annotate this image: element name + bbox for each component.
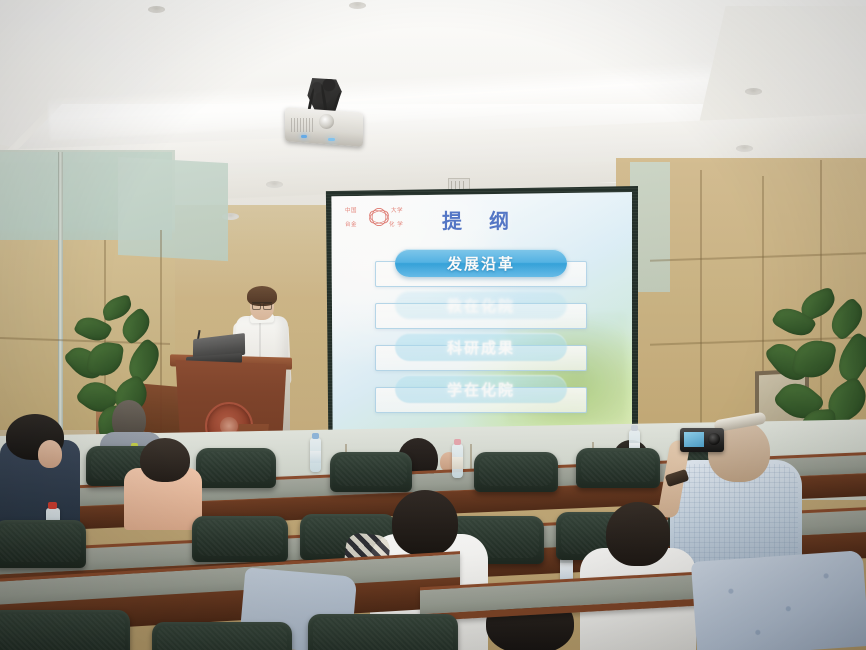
projector-status-led (328, 138, 335, 141)
slide-outline-list: 发展沿革 教在化院 科研成果 学在化院 (329, 247, 632, 415)
outline-item-label[interactable]: 教在化院 (395, 291, 567, 319)
wall-panel-seam (700, 170, 702, 440)
lecture-chair[interactable] (308, 614, 458, 650)
downlight-icon (736, 145, 753, 152)
outline-item[interactable]: 学在化院 (329, 373, 632, 415)
jacket-pattern (697, 557, 863, 650)
bottle-cap (454, 439, 461, 445)
camera-screen (684, 432, 704, 447)
lecture-chair[interactable] (152, 622, 292, 650)
water-bottle[interactable] (452, 444, 463, 478)
attendee-head (606, 502, 670, 566)
downlight-icon (349, 2, 366, 9)
projector-vents (291, 118, 313, 132)
bottle-label (560, 563, 573, 579)
outline-item[interactable]: 教在化院 (329, 289, 632, 331)
bottle-cap (631, 425, 638, 431)
plant-leaf (791, 337, 837, 381)
projection-screen[interactable]: 中国 台金 大学 化 学 提 纲 发展沿革 教在化院 科研成果 学在化院 (329, 191, 632, 437)
attendee-head (38, 440, 62, 468)
outline-item[interactable]: 科研成果 (329, 331, 632, 373)
left-glass-panel-upper (118, 157, 228, 261)
plant-leaf (121, 337, 166, 385)
bottle-label (452, 457, 463, 469)
outline-item-label[interactable]: 发展沿革 (395, 249, 567, 277)
camera-lens-icon (708, 433, 720, 445)
projector-power-led (301, 135, 307, 138)
slide-title: 提 纲 (329, 205, 632, 234)
lecture-chair[interactable] (330, 452, 412, 492)
plant-leaf (831, 331, 866, 385)
bottle-cap (48, 502, 57, 509)
downlight-icon (148, 6, 165, 13)
lecture-chair[interactable] (196, 448, 276, 488)
outline-item-label[interactable]: 科研成果 (395, 333, 567, 361)
attendee-head (392, 490, 458, 556)
lecture-chair[interactable] (0, 520, 86, 568)
projector-lens-icon (319, 114, 334, 129)
eyeglasses-icon (252, 302, 272, 308)
attendee-head (140, 438, 190, 482)
water-bottle[interactable] (310, 438, 321, 472)
lecture-hall-photo: 中国 台金 大学 化 学 提 纲 发展沿革 教在化院 科研成果 学在化院 (0, 0, 866, 650)
lecture-chair[interactable] (0, 610, 130, 650)
bottle-cap (312, 433, 319, 439)
ceiling-projector (279, 78, 369, 146)
downlight-icon (266, 181, 283, 188)
downlight-icon (745, 88, 762, 95)
lecture-chair[interactable] (192, 516, 288, 562)
plant-leaf (86, 340, 124, 378)
lecture-chair[interactable] (474, 452, 558, 492)
outline-item[interactable]: 发展沿革 (329, 247, 632, 289)
bottle-label (310, 451, 321, 463)
outline-item-label[interactable]: 学在化院 (395, 375, 567, 403)
